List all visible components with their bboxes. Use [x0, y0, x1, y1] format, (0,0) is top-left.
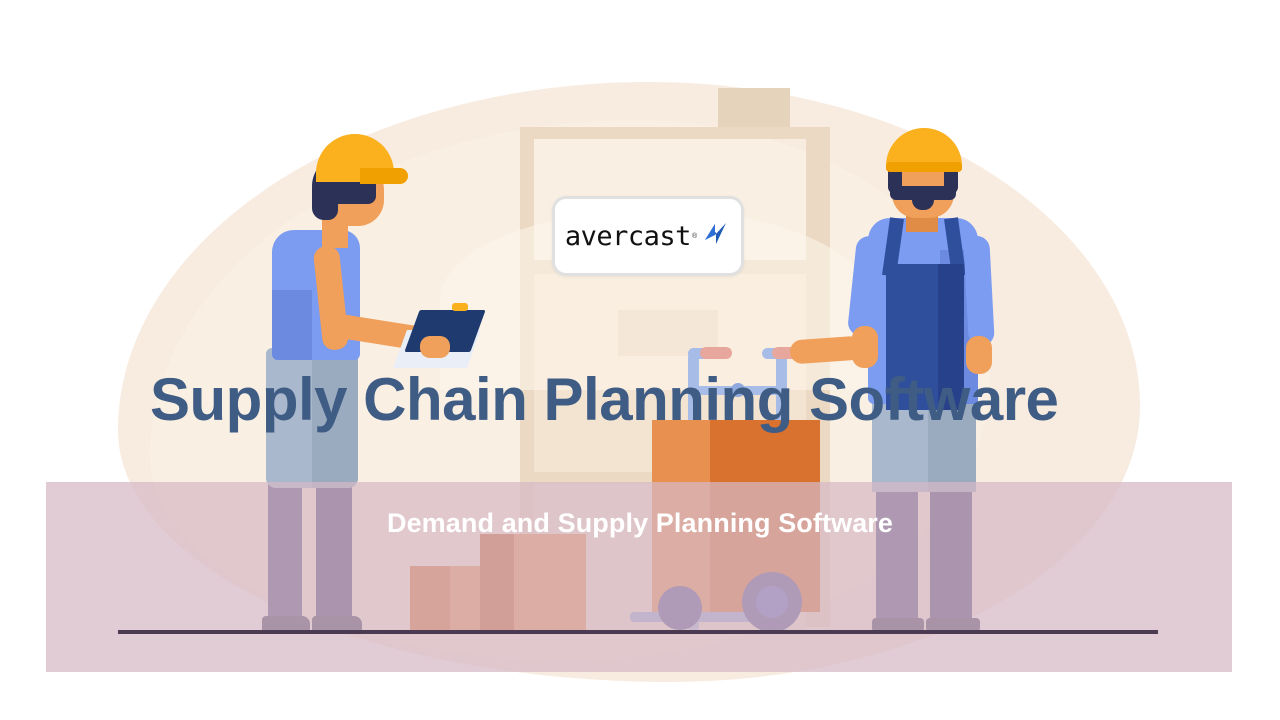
logo-registered-mark: ® — [692, 233, 697, 240]
worker-right-goatee — [912, 190, 934, 210]
worker-left-helmet-brim — [360, 168, 408, 184]
clipboard-clip-icon — [452, 303, 468, 311]
worker-left-shirt-shade — [272, 290, 312, 360]
slide-canvas: avercast® — [0, 0, 1280, 720]
worker-right-hand-left — [789, 336, 862, 365]
ground-line — [118, 630, 1158, 634]
worker-right-helmet-brim — [886, 162, 962, 172]
logo-wordmark: avercast — [565, 223, 691, 250]
avercast-logo-badge[interactable]: avercast® — [552, 196, 744, 276]
logo-lightning-chart-mark-icon — [699, 218, 731, 255]
page-subtitle: Demand and Supply Planning Software — [150, 508, 1130, 539]
shelf-beam-top — [520, 127, 830, 139]
page-title: Supply Chain Planning Software — [150, 368, 1150, 431]
hand-truck-grip-left — [700, 347, 732, 359]
worker-left-hair-back — [312, 176, 338, 220]
shelf-top-box — [718, 88, 790, 130]
worker-left-hand — [420, 336, 450, 358]
